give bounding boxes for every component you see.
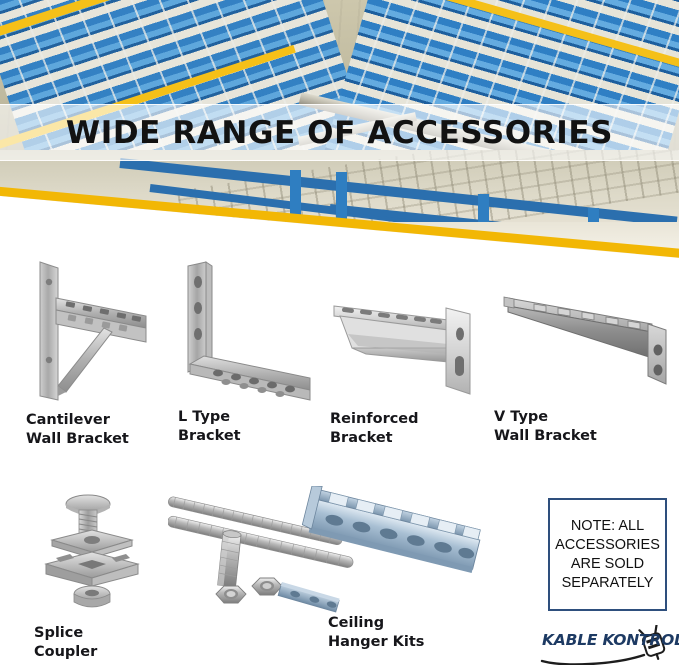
splice-coupler-image [26, 486, 158, 618]
product-label-reinforced-bracket: Reinforced Bracket [330, 410, 480, 448]
product-splice-coupler[interactable]: Splice Coupler [26, 486, 158, 662]
blue-truss-post-1 [290, 170, 301, 218]
product-label-l-type-bracket: L Type Bracket [178, 408, 318, 446]
product-v-type-wall-bracket[interactable]: V Type Wall Bracket [500, 280, 668, 446]
product-cantilever-wall-bracket[interactable]: Cantilever Wall Bracket [26, 258, 158, 449]
ceiling-hanger-kit-image [168, 486, 498, 618]
product-label-cantilever-wall-bracket: Cantilever Wall Bracket [26, 411, 158, 449]
brand-logo-text: KABLE KONTROL [542, 631, 679, 649]
cantilever-bracket-image [26, 258, 158, 403]
note-box: NOTE: ALL ACCESSORIES ARE SOLD SEPARATEL… [548, 498, 667, 611]
product-ceiling-hanger-kits[interactable]: Ceiling Hanger Kits [168, 486, 498, 652]
product-label-splice-coupler: Splice Coupler [34, 624, 158, 662]
product-reinforced-bracket[interactable]: Reinforced Bracket [330, 286, 480, 448]
v-type-bracket-image [500, 280, 668, 396]
blue-truss-post-2 [336, 172, 347, 222]
l-type-bracket-image [178, 260, 318, 402]
brand-logo[interactable]: KABLE KONTROL [540, 625, 676, 665]
product-label-v-type-wall-bracket: V Type Wall Bracket [494, 408, 668, 446]
note-text: NOTE: ALL ACCESSORIES ARE SOLD SEPARATEL… [555, 517, 660, 593]
reinforced-bracket-image [330, 286, 480, 400]
product-l-type-bracket[interactable]: L Type Bracket [178, 260, 318, 446]
title-banner: WIDE RANGE OF ACCESSORIES [0, 104, 679, 161]
product-label-ceiling-hanger-kits: Ceiling Hanger Kits [328, 614, 498, 652]
page-title: WIDE RANGE OF ACCESSORIES [66, 115, 613, 151]
